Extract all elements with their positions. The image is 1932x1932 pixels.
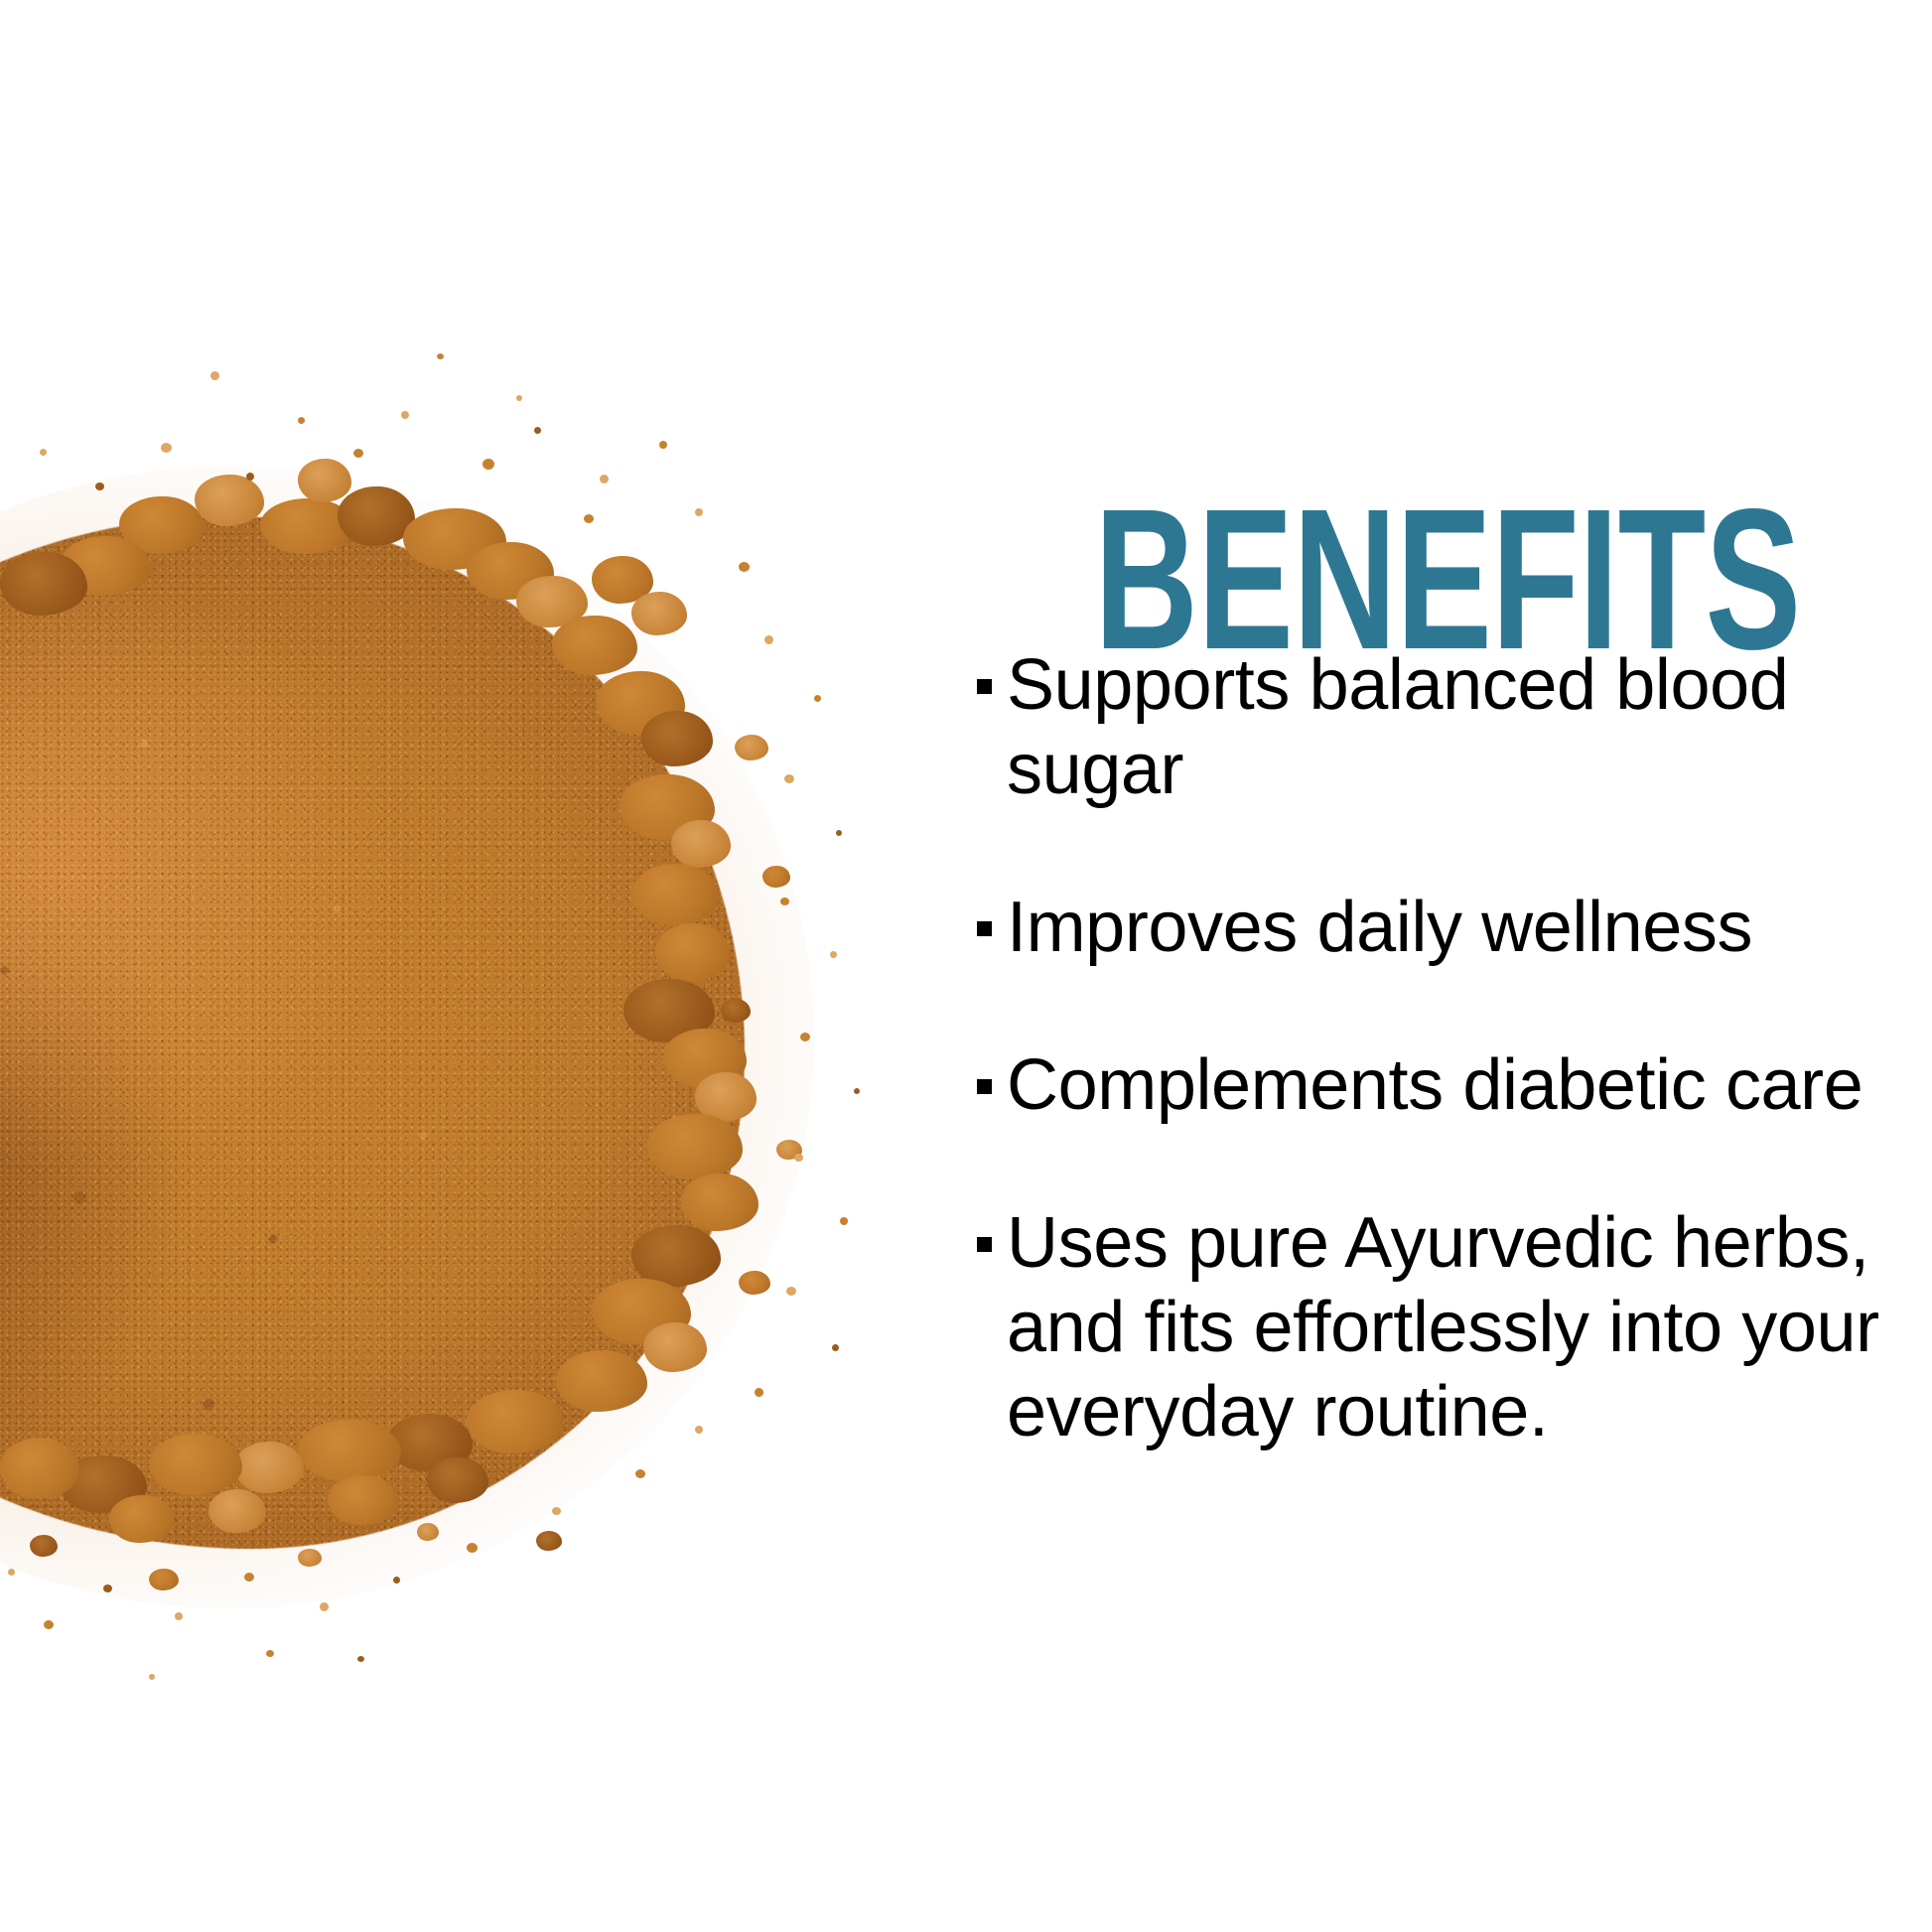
benefit-text: Supports balanced blood sugar	[1007, 645, 1788, 809]
list-item: Improves daily wellness	[963, 886, 1880, 970]
benefit-text: Uses pure Ayurvedic herbs, and fits effo…	[1007, 1203, 1879, 1451]
turmeric-powder-image	[0, 0, 953, 1932]
benefits-poster: BENEFITS Supports balanced blood sugar I…	[0, 0, 1932, 1932]
square-bullet-icon	[977, 1079, 992, 1094]
square-bullet-icon	[977, 1237, 992, 1252]
square-bullet-icon	[977, 921, 992, 936]
benefit-text: Complements diabetic care	[1007, 1045, 1863, 1125]
benefits-content-column: BENEFITS Supports balanced blood sugar I…	[953, 0, 1932, 1932]
list-item: Complements diabetic care	[963, 1043, 1880, 1128]
powder-dust-specks	[0, 0, 953, 1932]
benefit-text: Improves daily wellness	[1007, 888, 1752, 967]
list-item: Supports balanced blood sugar	[963, 643, 1880, 812]
benefits-list: Supports balanced blood sugar Improves d…	[963, 643, 1932, 1454]
square-bullet-icon	[977, 679, 992, 694]
list-item: Uses pure Ayurvedic herbs, and fits effo…	[963, 1201, 1880, 1454]
